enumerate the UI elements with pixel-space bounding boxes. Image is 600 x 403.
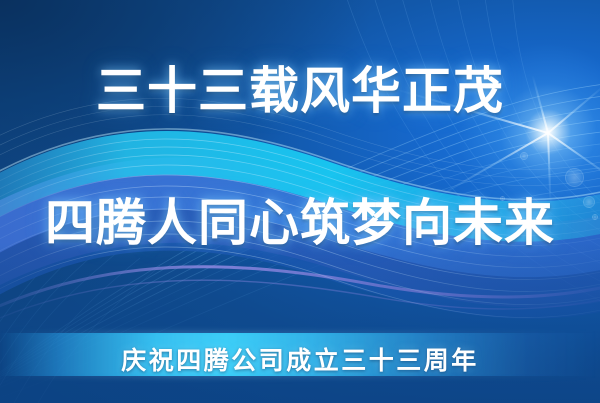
headline-line-1: 三十三载风华正茂	[0, 66, 600, 116]
anniversary-poster: 三十三载风华正茂 四腾人同心筑梦向未来 庆祝四腾公司成立三十三周年	[0, 0, 600, 403]
lens-flare-bokeh	[520, 152, 528, 160]
lens-flare-bokeh	[565, 168, 584, 187]
headline-line-1-text: 三十三载风华正茂	[96, 63, 504, 119]
background-bottom-wash	[0, 242, 600, 403]
subtitle-text: 庆祝四腾公司成立三十三周年	[121, 348, 479, 375]
subtitle: 庆祝四腾公司成立三十三周年	[0, 341, 600, 377]
headline-line-2: 四腾人同心筑梦向未来	[0, 198, 600, 248]
headline-line-2-text: 四腾人同心筑梦向未来	[45, 195, 555, 251]
